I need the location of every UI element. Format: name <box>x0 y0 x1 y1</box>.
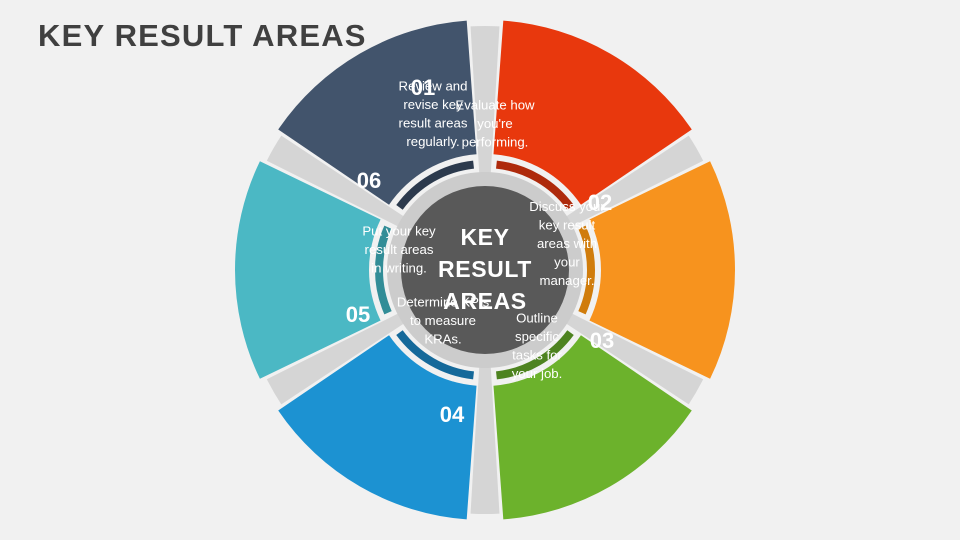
slide-canvas: KEY RESULT AREAS KEY RESULT AREAS 01Eval… <box>0 0 960 540</box>
segment-text-06-line4: regularly. <box>406 134 459 149</box>
segment-text-06-line2: revise key <box>403 97 463 112</box>
segment-text-02-line4: your <box>554 255 580 270</box>
segment-text-05-line2: result areas <box>365 242 434 257</box>
center-label-line2: RESULT <box>438 256 532 282</box>
segment-text-04-line2: to measure <box>410 313 476 328</box>
segment-text-01-line2: you're <box>477 116 513 131</box>
segment-text-03-line3: tasks for <box>512 347 562 362</box>
segment-number-05: 05 <box>346 302 370 327</box>
segment-text-04-line3: KRAs. <box>424 332 461 347</box>
segment-text-01-line3: performing. <box>462 135 529 150</box>
wheel-spoke-3 <box>471 358 500 514</box>
center-label-line1: KEY <box>460 224 509 250</box>
segment-text-02-line3: areas with <box>537 236 597 251</box>
segment-text-05-line3: in writing. <box>371 261 427 276</box>
segment-text-03-line2: specific <box>515 329 559 344</box>
segment-text-05-line1: Put your key <box>362 224 436 239</box>
segment-number-06: 06 <box>357 168 381 193</box>
segment-text-03-line1: Outline <box>516 310 558 325</box>
segment-text-03-line4: your job. <box>512 366 563 381</box>
segment-text-06-line1: Review and <box>399 78 468 93</box>
segment-text-02-line2: key result <box>539 218 596 233</box>
segment-number-04: 04 <box>440 402 465 427</box>
segment-text-04-line1: Determine KPIs <box>397 295 490 310</box>
segment-text-06-line3: result areas <box>399 115 468 130</box>
segment-number-03: 03 <box>590 328 614 353</box>
segment-text-02-line1: Discuss your <box>529 199 605 214</box>
key-result-areas-wheel: KEY RESULT AREAS 01Evaluate howyou'reper… <box>0 0 960 540</box>
segment-text-02-line5: manager. <box>540 273 595 288</box>
segment-text-01-line1: Evaluate how <box>455 98 535 113</box>
